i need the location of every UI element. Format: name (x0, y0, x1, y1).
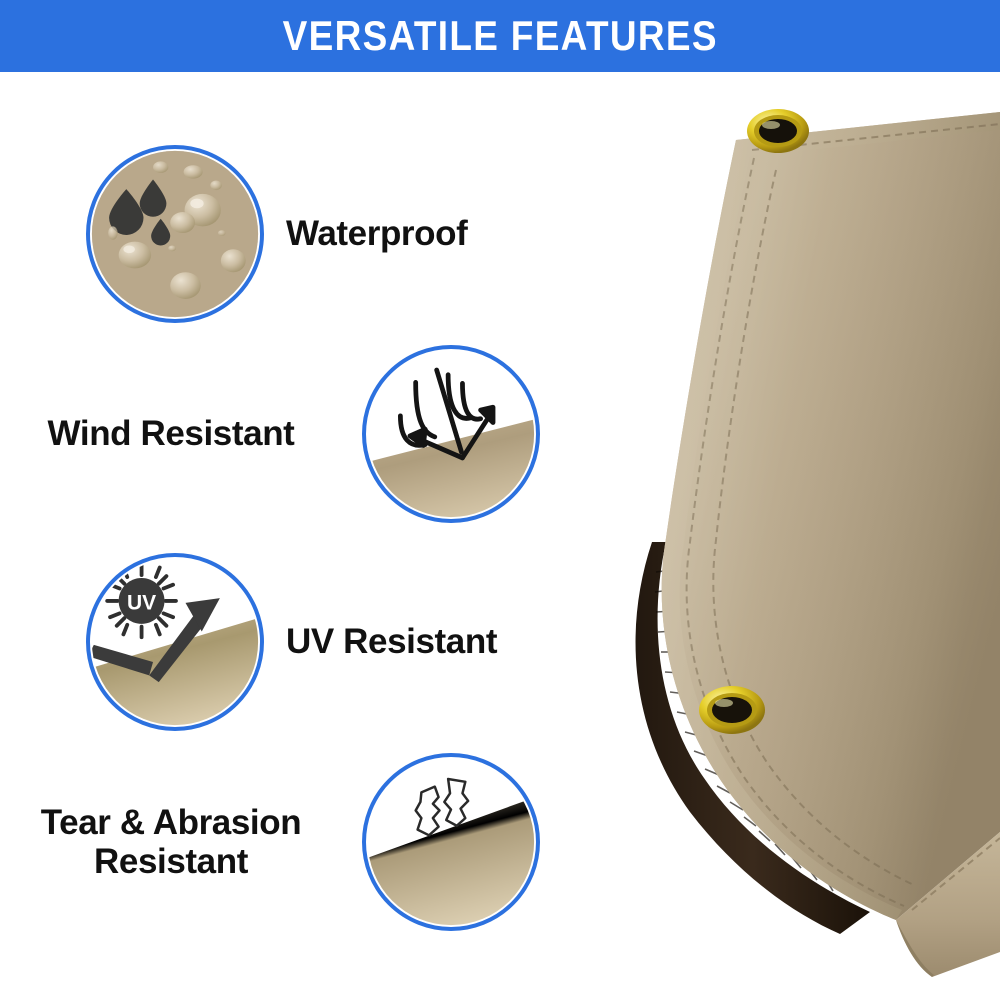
feature-item-waterproof: Waterproof (0, 134, 626, 334)
waterproof-icon (86, 145, 264, 323)
wind-resistant-icon (362, 345, 540, 523)
features-list: Waterproof (0, 72, 540, 1000)
feature-label-wind-resistant: Wind Resistant (0, 414, 342, 453)
feature-label-tear-abrasion-resistant: Tear & Abrasion Resistant (0, 803, 342, 881)
grommet-lower (699, 686, 765, 734)
uv-resistant-icon: UV (86, 553, 264, 731)
grommet-upper (747, 109, 809, 153)
product-image-tarp (540, 72, 1000, 1000)
tear-abrasion-icon (362, 753, 540, 931)
uv-icon-text: UV (127, 592, 156, 615)
page-title: VERSATILE FEATURES (282, 12, 717, 60)
feature-item-uv-resistant: UV UV Resistant (0, 542, 626, 742)
feature-label-uv-resistant: UV Resistant (286, 622, 497, 661)
header-banner: VERSATILE FEATURES (0, 0, 1000, 72)
feature-item-wind-resistant: Wind Resistant (0, 334, 615, 534)
feature-item-tear-abrasion-resistant: Tear & Abrasion Resistant (0, 742, 615, 942)
feature-label-waterproof: Waterproof (286, 214, 467, 253)
